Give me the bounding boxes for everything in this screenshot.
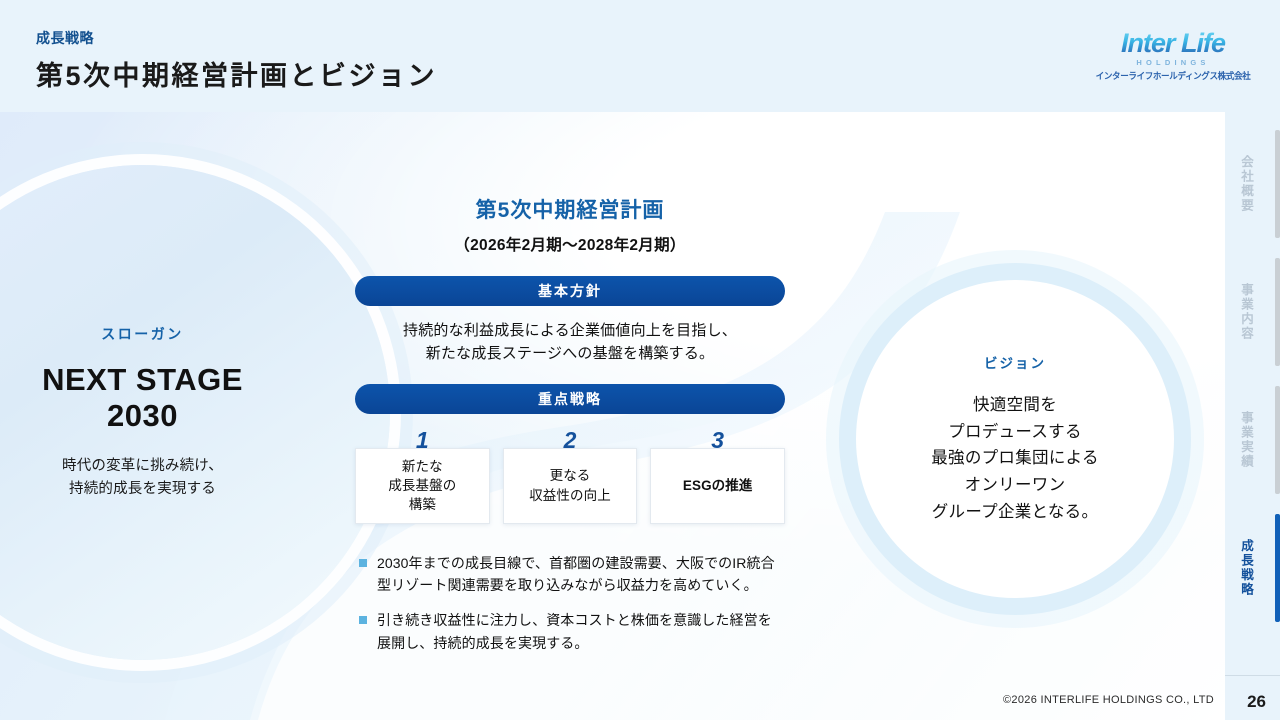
policy-line-2: 新たな成長ステージへの基盤を構築する。 (355, 342, 785, 365)
sidebar-indicator-active (1275, 514, 1280, 622)
card-3-line-1: ESGの推進 (683, 478, 753, 493)
slide-root: スローガン NEXT STAGE 2030 時代の変革に挑み続け、 持続的成長を… (0, 0, 1280, 720)
sidebar-item-business-content[interactable]: 事業内容 (1225, 258, 1280, 366)
strategy-card-2-text: 更なる 収益性の向上 (529, 466, 611, 504)
slide-header: 成長戦略 第5次中期経営計画とビジョン Inter Life HOLDINGS … (0, 0, 1280, 112)
basic-policy-banner: 基本方針 (355, 276, 785, 306)
slogan-line-1: NEXT STAGE (0, 362, 334, 399)
strategy-card-3[interactable]: 3 ESGの推進 (650, 448, 785, 524)
slogan-line-2: 2030 (0, 398, 334, 435)
plan-title: 第5次中期経営計画 (355, 194, 785, 224)
slogan-subtext: 時代の変革に挑み続け、 持続的成長を実現する (0, 455, 334, 501)
card-1-line-3: 構築 (409, 497, 436, 512)
strategy-cards-wrapper: 1 新たな 成長基盤の 構築 2 更なる 収益性の向上 (355, 448, 785, 524)
section-eyebrow: 成長戦略 (36, 28, 94, 48)
slogan-headline: NEXT STAGE 2030 (0, 362, 334, 435)
strategy-number-3: 3 (711, 424, 724, 457)
square-bullet-icon (359, 616, 367, 624)
strategy-card-3-text: ESGの推進 (683, 476, 753, 495)
vision-line-1: 快適空間を (880, 392, 1150, 419)
sidebar-divider (1225, 675, 1280, 676)
sidebar-indicator (1275, 258, 1280, 366)
sidebar-indicator (1275, 386, 1280, 494)
vision-line-2: プロデュースする (880, 419, 1150, 446)
policy-line-1: 持続的な利益成長による企業価値向上を目指し、 (355, 319, 785, 342)
slogan-sub-line-2: 持続的成長を実現する (0, 478, 334, 501)
vision-label: ビジョン (880, 352, 1150, 372)
vision-circle: ビジョン 快適空間を プロデュースする 最強のプロ集団による オンリーワン グル… (856, 280, 1174, 598)
card-1-line-1: 新たな (402, 459, 443, 474)
vision-statement: 快適空間を プロデュースする 最強のプロ集団による オンリーワン グループ企業と… (880, 392, 1150, 526)
company-logo: Inter Life HOLDINGS インターライフホールディングス株式会社 (1088, 30, 1258, 82)
page-number: 26 (1247, 692, 1266, 712)
sidebar-item-label: 会社概要 (1237, 155, 1256, 213)
section-sidebar: 会社概要 事業内容 事業実績 成長戦略 (1225, 112, 1280, 720)
square-bullet-icon (359, 559, 367, 567)
sidebar-item-growth-strategy[interactable]: 成長戦略 (1225, 514, 1280, 622)
vision-line-3: 最強のプロ集団による (880, 446, 1150, 473)
basic-policy-text: 持続的な利益成長による企業価値向上を目指し、 新たな成長ステージへの基盤を構築す… (355, 319, 785, 366)
logo-wordmark: Inter Life (1088, 30, 1258, 57)
strategy-notes: 2030年までの成長目線で、首都圏の建設需要、大阪でのIR統合型リゾート関連需要… (355, 552, 785, 655)
key-strategy-banner: 重点戦略 (355, 384, 785, 414)
strategy-cards: 1 新たな 成長基盤の 構築 2 更なる 収益性の向上 (355, 448, 785, 524)
sidebar-item-label: 事業実績 (1237, 411, 1256, 469)
vision-line-5: グループ企業となる。 (880, 499, 1150, 526)
card-2-line-2: 収益性の向上 (529, 488, 611, 503)
strategy-card-1[interactable]: 1 新たな 成長基盤の 構築 (355, 448, 490, 524)
copyright-text: ©2026 INTERLIFE HOLDINGS CO., LTD (1003, 694, 1214, 706)
plan-column: 第5次中期経営計画 （2026年2月期〜2028年2月期） 基本方針 持続的な利… (355, 112, 785, 666)
strategy-card-1-text: 新たな 成長基盤の 構築 (388, 457, 456, 514)
sidebar-item-business-results[interactable]: 事業実績 (1225, 386, 1280, 494)
sidebar-item-company-overview[interactable]: 会社概要 (1225, 130, 1280, 238)
slogan-sub-line-1: 時代の変革に挑み続け、 (0, 455, 334, 478)
sidebar-indicator (1275, 130, 1280, 238)
logo-japanese-name: インターライフホールディングス株式会社 (1092, 69, 1254, 82)
logo-holdings-text: HOLDINGS (1088, 58, 1258, 67)
page-title: 第5次中期経営計画とビジョン (36, 54, 437, 93)
note-item-1: 2030年までの成長目線で、首都圏の建設需要、大阪でのIR統合型リゾート関連需要… (359, 552, 785, 597)
card-2-line-1: 更なる (550, 468, 591, 483)
slogan-label: スローガン (0, 324, 334, 344)
note-text-1: 2030年までの成長目線で、首都圏の建設需要、大阪でのIR統合型リゾート関連需要… (377, 552, 785, 597)
note-item-2: 引き続き収益性に注力し、資本コストと株価を意識した経営を展開し、持続的成長を実現… (359, 609, 785, 654)
plan-period: （2026年2月期〜2028年2月期） (355, 233, 785, 255)
strategy-number-2: 2 (564, 424, 577, 457)
card-1-line-2: 成長基盤の (388, 478, 456, 493)
content-panel: スローガン NEXT STAGE 2030 時代の変革に挑み続け、 持続的成長を… (0, 112, 1225, 720)
strategy-number-1: 1 (416, 424, 429, 457)
note-text-2: 引き続き収益性に注力し、資本コストと株価を意識した経営を展開し、持続的成長を実現… (377, 609, 785, 654)
vision-line-4: オンリーワン (880, 472, 1150, 499)
strategy-card-2[interactable]: 2 更なる 収益性の向上 (503, 448, 638, 524)
sidebar-item-label: 事業内容 (1237, 283, 1256, 341)
sidebar-item-label: 成長戦略 (1237, 539, 1256, 597)
